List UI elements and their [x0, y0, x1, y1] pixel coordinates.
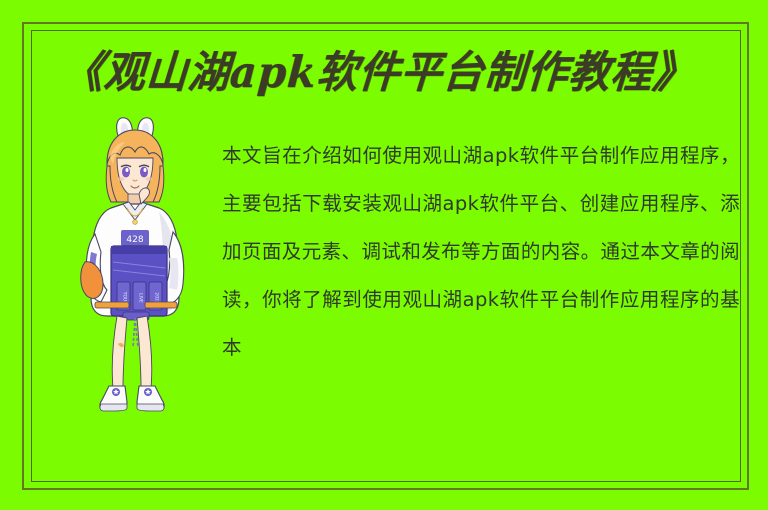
poster-canvas: 《观山湖apk软件平台制作教程》	[0, 0, 768, 510]
svg-text:LIVE: LIVE	[138, 293, 144, 303]
legs	[112, 316, 152, 388]
character-artwork: 428 TOUR LIVE 2023	[55, 112, 215, 422]
shirt-graphic-text: 428	[126, 235, 143, 245]
page-title: 《观山湖apk软件平台制作教程》	[34, 51, 737, 94]
sneakers	[100, 386, 164, 411]
anime-girl-illustration: 428 TOUR LIVE 2023	[55, 112, 215, 422]
body-paragraph: 本文旨在介绍如何使用观山湖apk软件平台制作应用程序，主要包括下载安装观山湖ap…	[222, 132, 740, 422]
